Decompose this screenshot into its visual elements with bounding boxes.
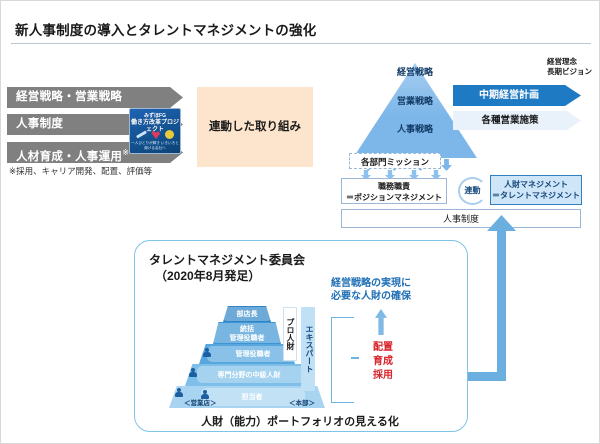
shield-icon xyxy=(165,130,174,139)
position-management-line2: ＝ポジションマネジメント xyxy=(342,192,446,203)
position-management-box: 職務職責 ＝ポジションマネジメント xyxy=(341,178,447,204)
talent-management-line2: ＝タレントマネジメント xyxy=(491,190,581,201)
pyramid-label-senior-line2: 管理役職者 xyxy=(213,333,281,343)
badge-line3: 一人ひとりが輝き いきいきと働ける会社へ xyxy=(130,141,180,150)
down-arrow-icon xyxy=(441,159,452,171)
link-cycle-icon: 連動 xyxy=(458,177,487,205)
secure-talent-note: 経営戦略の実現に 必要な人財の確保 xyxy=(331,277,443,303)
vision-line1: 経営理念 xyxy=(547,57,600,67)
grouping-brace xyxy=(331,317,354,403)
hr-action-development: 育成 xyxy=(359,355,407,369)
heart-icon xyxy=(151,130,160,139)
hr-action-placement: 配置 xyxy=(359,341,407,355)
corporate-vision-label: 経営理念 長期ビジョン xyxy=(547,57,600,77)
badge-line1: みずほFG xyxy=(130,113,180,119)
position-management-line1: 職務職責 xyxy=(342,181,446,192)
mid-term-plan-label: 中期経営計画 xyxy=(453,85,565,106)
headquarters-label: ＜本部＞ xyxy=(289,397,315,407)
flow-bar-label: 人材育成・人事運用 xyxy=(16,151,122,163)
page-title: 新人事制度の導入とタレントマネジメントの強化 xyxy=(15,19,575,39)
committee-title-line2: （2020年8月発足） xyxy=(149,268,349,284)
slide-root: 新人事制度の導入とタレントマネジメントの強化 経営戦略・営業戦略 人事制度 人材… xyxy=(0,0,600,444)
committee-title-line1: タレントマネジメント委員会 xyxy=(149,252,349,268)
vision-line2: 長期ビジョン xyxy=(547,67,600,77)
connector-arrow-vertical xyxy=(497,229,506,381)
flow-bar-management-strategy: 経営戦略・営業戦略 xyxy=(7,87,183,108)
linked-initiative-box: 連動した取り組み xyxy=(197,87,313,167)
linked-initiative-label: 連動した取り組み xyxy=(197,118,313,134)
link-cycle-label: 連動 xyxy=(455,185,490,196)
grouping-brace-tick xyxy=(351,357,359,359)
flow-bar-label: 経営戦略・営業戦略 xyxy=(16,91,122,103)
portfolio-caption: 人財（能力）ポートフォリオの見える化 xyxy=(134,413,466,429)
badge-icon-row xyxy=(130,129,180,140)
department-mission-box: 各部門ミッション xyxy=(349,153,441,169)
hr-actions-note: 配置 育成 採用 xyxy=(359,341,407,383)
sales-measures-label: 各種営業施策 xyxy=(453,111,567,130)
secure-talent-line2: 必要な人財の確保 xyxy=(331,290,443,303)
hr-system-box: 人事制度 xyxy=(341,209,581,228)
pyramid-label-midlevel: 専門分野の中級人財 xyxy=(193,370,305,380)
sales-measures-arrow: 各種営業施策 xyxy=(453,111,581,130)
pro-talent-label: プロ人財 xyxy=(283,307,297,361)
flow-bar-label: 人事制度 xyxy=(16,118,63,130)
hr-action-recruitment: 採用 xyxy=(359,369,407,383)
talent-management-line1: 人財マネジメント xyxy=(491,179,581,190)
project-badge-logo: みずほFG 働き方改革プロジェクト 一人ひとりが輝き いきいきと働ける会社へ xyxy=(129,108,181,154)
pyramid-label-branch-head: 部店長 xyxy=(223,309,271,319)
title-divider xyxy=(11,43,591,44)
pyramid-label-management-strategy: 経営戦略 xyxy=(353,65,477,78)
branch-store-label: ＜営業店＞ xyxy=(184,397,217,407)
secure-talent-line1: 経営戦略の実現に xyxy=(331,277,443,290)
mid-term-plan-arrow: 中期経営計画 xyxy=(453,85,581,106)
expert-label: エキスパート xyxy=(301,307,315,391)
talent-management-box: 人財マネジメント ＝タレントマネジメント xyxy=(490,175,582,205)
committee-title: タレントマネジメント委員会 （2020年8月発足） xyxy=(149,252,349,284)
pen-icon xyxy=(136,130,147,138)
footnote-text: ※採用、キャリア開発、配置、評価等 xyxy=(9,165,152,177)
pyramid-label-staff: 担当者 xyxy=(217,392,287,402)
